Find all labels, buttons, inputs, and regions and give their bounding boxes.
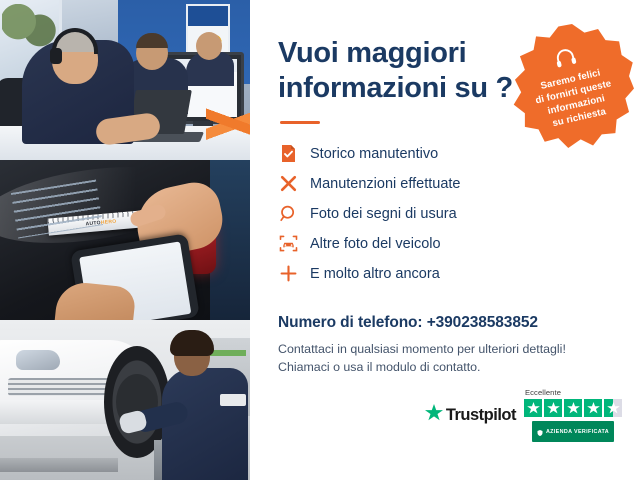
status-badge: Saremo felici di fornirti queste informa… [510, 24, 634, 148]
rating-stars [524, 399, 622, 417]
trustpilot-rating: Eccellente [524, 388, 622, 442]
plus-icon [278, 264, 298, 284]
headset-icon [552, 45, 579, 74]
call-center-agents-photo [0, 0, 250, 160]
rating-label: Eccellente [525, 388, 561, 397]
verified-business-label: AZIENDA VERIFICATA [546, 429, 609, 435]
contact-description-line-1: Contattaci in qualsiasi momento per ulte… [278, 342, 566, 356]
verified-shield-icon [537, 423, 543, 441]
contact-description: Contattaci in qualsiasi momento per ulte… [278, 340, 614, 377]
content-panel: Vuoi maggiori informazioni su ? Storico … [250, 0, 640, 480]
vehicle-lift-arm [0, 458, 118, 472]
agent-headset-earcup [50, 48, 62, 64]
background-agent-head [196, 32, 222, 60]
crossed-tools-icon [278, 174, 298, 194]
contact-description-line-2: Chiamaci o usa il modulo di contatto. [278, 360, 481, 374]
headline-line-1: Vuoi maggiori [278, 37, 466, 69]
photo-column: AUTOHERO [0, 0, 250, 480]
rating-star-filled [544, 399, 562, 417]
list-item: Manutenzioni effettuate [278, 170, 614, 198]
page-title: Vuoi maggiori informazioni su ? [278, 36, 518, 107]
technician-wheel-inspection-photo [0, 320, 250, 480]
list-item: Altre foto del veicolo [278, 230, 614, 258]
list-item: E molto altro ancora [278, 260, 614, 288]
list-item-label: E molto altro ancora [310, 267, 440, 282]
rating-star-filled [524, 399, 542, 417]
car-headlight [16, 350, 60, 370]
trustpilot-widget[interactable]: Trustpilot Eccellente [425, 388, 622, 442]
rating-star-filled [564, 399, 582, 417]
list-item-label: Foto dei segni di usura [310, 207, 457, 222]
list-item-label: Altre foto del veicolo [310, 237, 441, 252]
technician-hair [170, 330, 214, 356]
outdoor-greenery [2, 4, 56, 48]
trustpilot-star-icon [425, 404, 443, 426]
trustpilot-brand: Trustpilot [425, 404, 516, 426]
car-grille [8, 378, 112, 396]
verified-business-badge: AZIENDA VERIFICATA [532, 421, 614, 442]
checklist-document-icon [278, 144, 298, 164]
headline-line-2: informazioni su ? [278, 72, 513, 104]
phone-number[interactable]: Numero di telefono: +390238583852 [278, 314, 614, 332]
list-item-label: Manutenzioni effettuate [310, 177, 460, 192]
technician-uniform-patch [220, 394, 246, 406]
title-divider [280, 121, 320, 124]
rating-star-filled [584, 399, 602, 417]
feature-list: Storico manutentivo Manutenzioni effettu… [278, 140, 614, 288]
rating-star-half [604, 399, 622, 417]
list-item: Foto dei segni di usura [278, 200, 614, 228]
blue-background-strip [210, 160, 250, 320]
magnifier-icon [278, 204, 298, 224]
trustpilot-wordmark: Trustpilot [446, 406, 516, 425]
orange-cones [206, 90, 250, 160]
info-request-banner: AUTOHERO [0, 0, 640, 480]
list-item-label: Storico manutentivo [310, 147, 438, 162]
car-scan-frame-icon [278, 234, 298, 254]
autohero-ruler-inspection-photo: AUTOHERO [0, 160, 250, 320]
